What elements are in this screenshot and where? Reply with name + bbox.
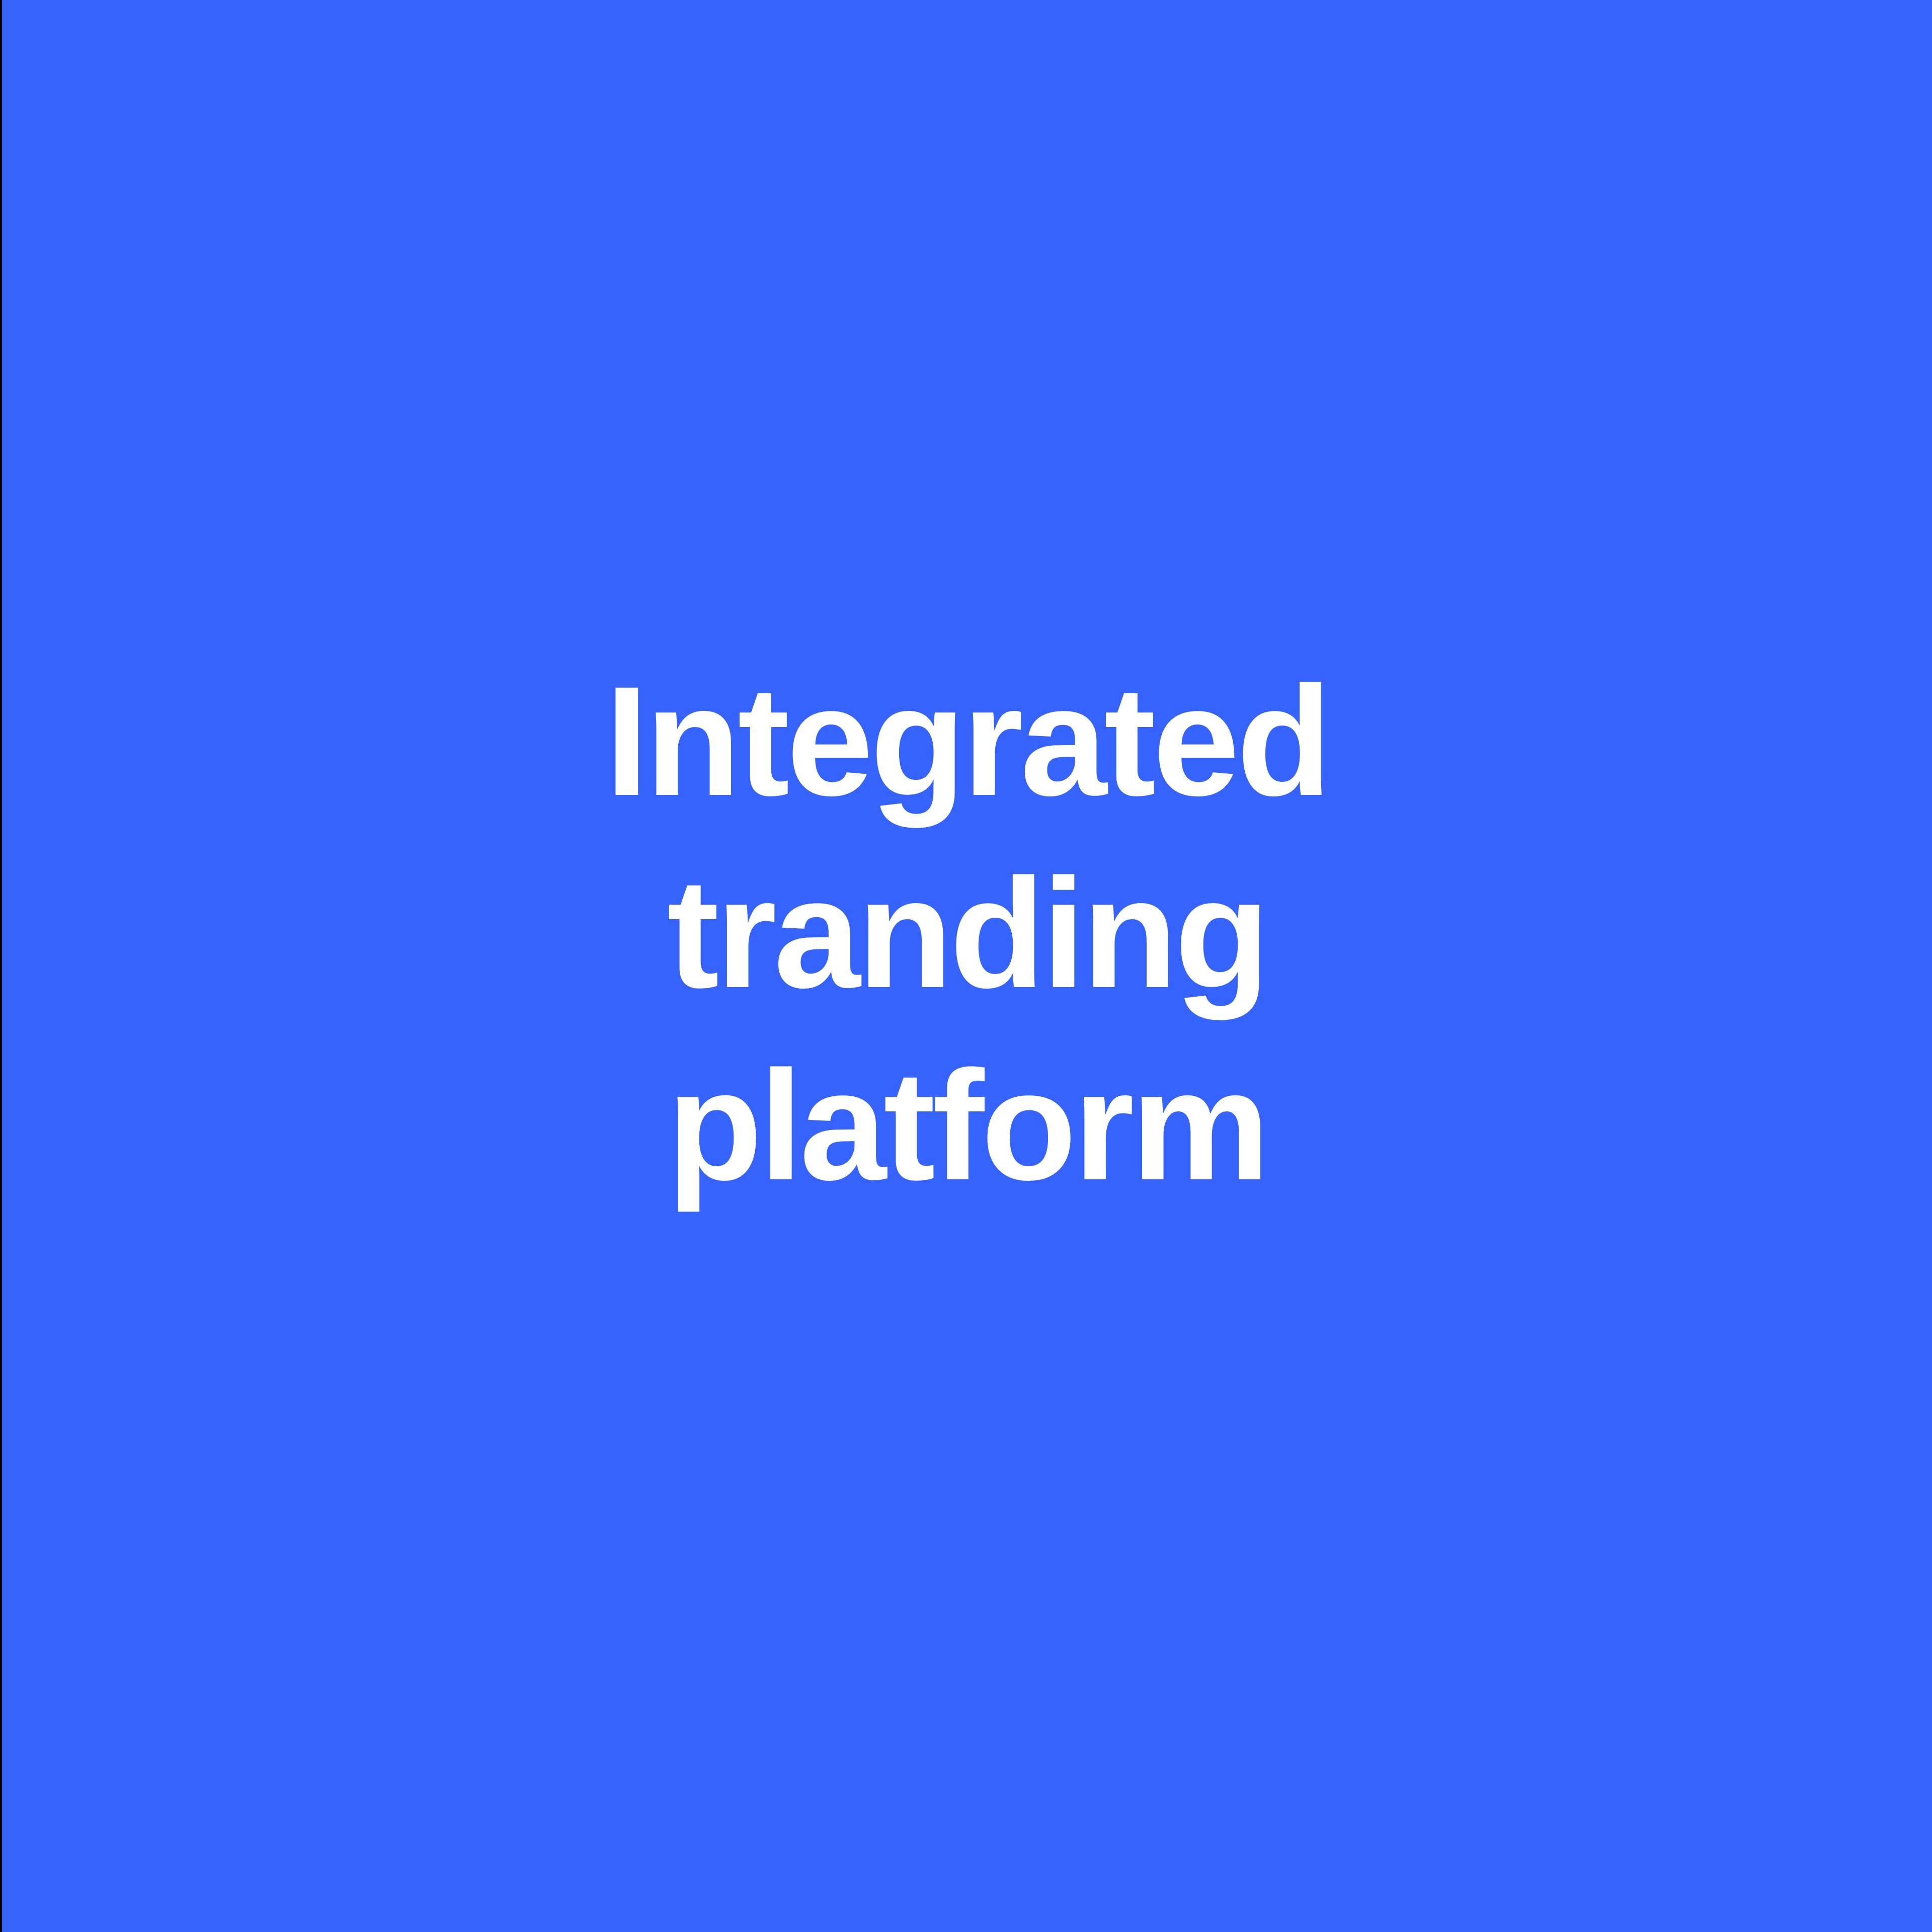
headline-line-1: Integrated (605, 645, 1329, 837)
headline-line-3: platform (667, 1029, 1267, 1222)
headline-line-2: tranding (667, 837, 1267, 1029)
headline-block: Integrated tranding platform (2, 645, 1932, 1222)
hero-card: Integrated tranding platform (0, 0, 1932, 1932)
